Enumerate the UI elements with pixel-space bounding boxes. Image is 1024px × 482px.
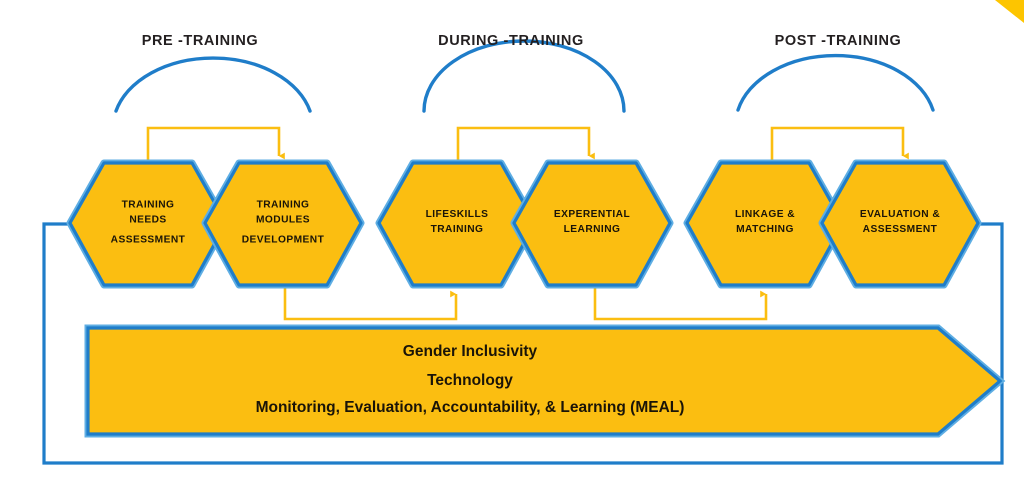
phase-label-during-training: DURING -TRAINING (438, 33, 584, 49)
phase-label-pre-training: PRE -TRAINING (142, 33, 259, 49)
hexagon-evaluation-assessment[interactable] (822, 163, 978, 285)
connector-top-post-training (772, 128, 903, 164)
connector-top-during-training (458, 128, 589, 164)
corner-accent-triangle (995, 0, 1024, 23)
hexagon-training-modules-development[interactable] (205, 163, 361, 285)
phase-arc-post-training (738, 56, 933, 110)
connector-bottom-pre-to-during (285, 286, 456, 319)
crosscutting-banner-shape[interactable] (88, 328, 1000, 434)
phase-label-post-training: POST -TRAINING (775, 33, 902, 49)
hexagon-experiential-learning[interactable] (514, 163, 670, 285)
diagram-canvas: PRE -TRAINING DURING -TRAINING POST -TRA… (0, 0, 1024, 482)
diagram-vector-layer (0, 0, 1024, 482)
connector-bottom-during-to-post (595, 286, 766, 319)
connector-top-pre-training (148, 128, 279, 164)
phase-arc-during-training (424, 41, 624, 111)
phase-arc-pre-training (116, 58, 310, 111)
